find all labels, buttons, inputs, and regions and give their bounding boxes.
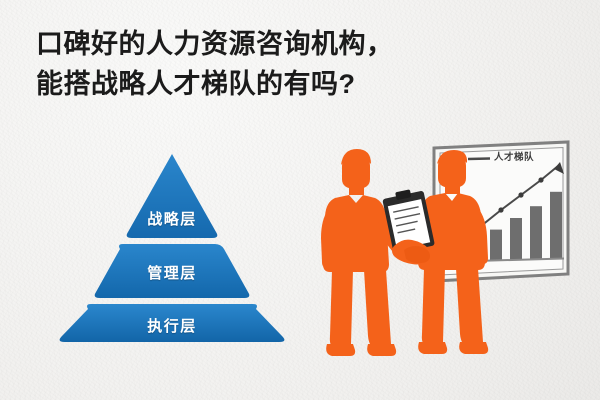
bar-3 [510,218,522,260]
poster-canvas: 口碑好的人力资源咨询机构， 能搭战略人才梯队的有吗? [0,0,600,400]
pyramid-label-top: 战略层 [147,208,197,229]
bar-5 [550,192,562,259]
bar-2 [490,230,502,260]
handshake-illustration: 人才梯队 [318,138,590,378]
illustration-svg [318,138,590,378]
legend-marker-line [468,159,490,160]
headline-line-1: 口碑好的人力资源咨询机构， [36,24,576,64]
headline-line-2: 能搭战略人才梯队的有吗? [36,64,576,104]
pyramid-diagram: 战略层 管理层 执行层 [40,148,300,348]
pyramid-label-bottom: 执行层 [147,315,197,336]
chart-legend-label: 人才梯队 [494,149,534,163]
page-title: 口碑好的人力资源咨询机构， 能搭战略人才梯队的有吗? [36,24,576,104]
bar-4 [530,206,542,259]
pyramid-label-middle: 管理层 [147,262,197,283]
